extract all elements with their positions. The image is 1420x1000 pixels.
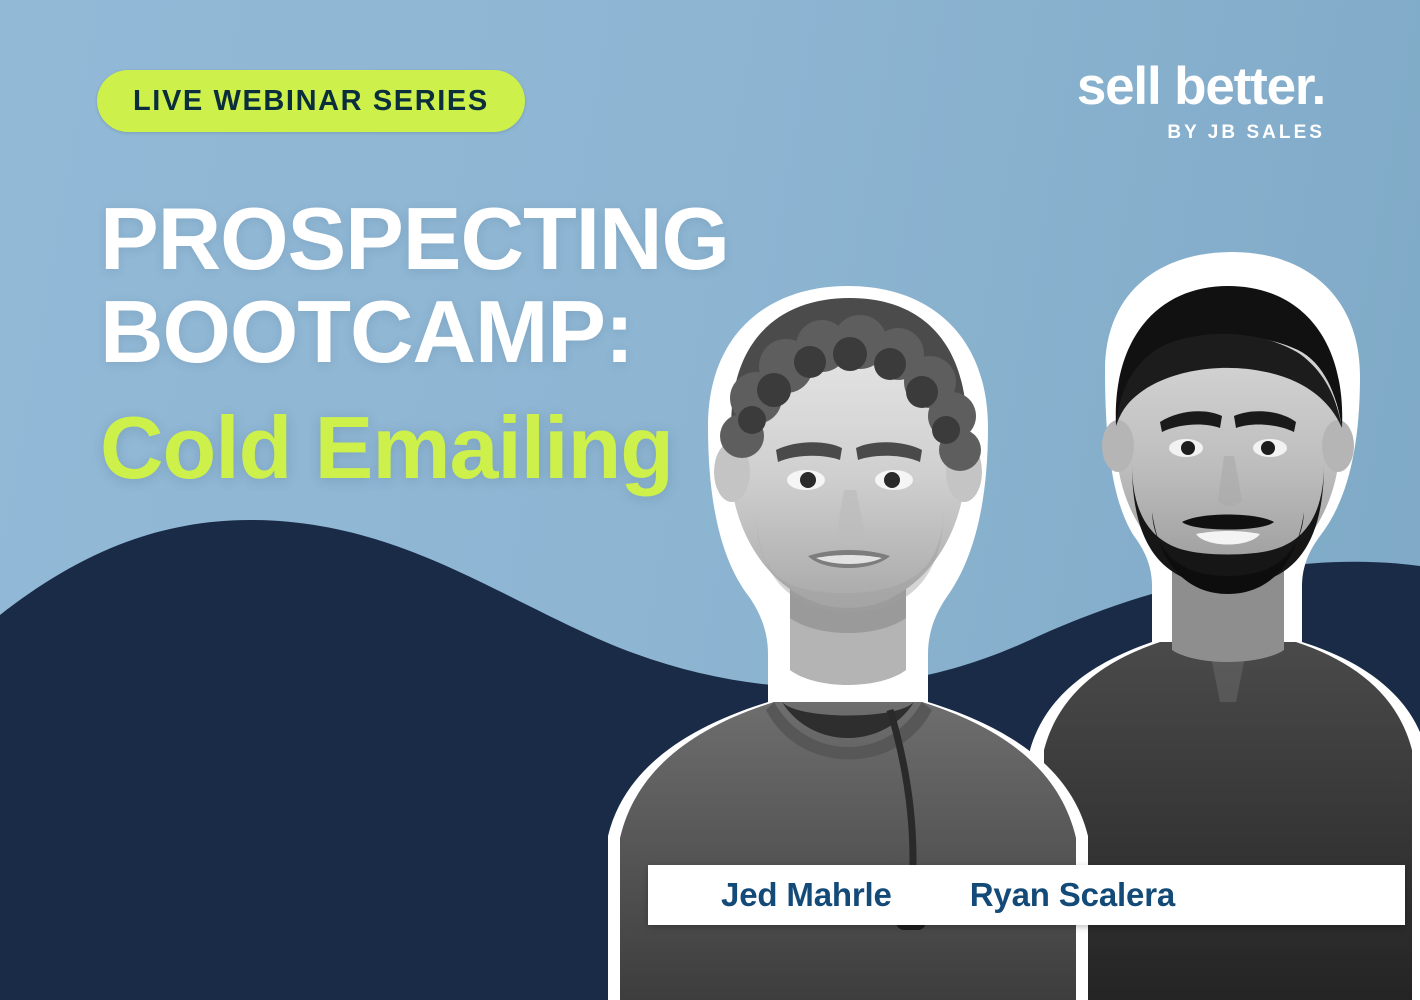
speaker-2-name: Ryan Scalera — [970, 876, 1175, 914]
webinar-promo-graphic: LIVE WEBINAR SERIES sell better. BY JB S… — [0, 0, 1420, 1000]
speaker-name-bar: Jed Mahrle Ryan Scalera — [648, 865, 1405, 925]
logo-brand-text: sell better. — [1077, 60, 1325, 113]
sell-better-logo: sell better. BY JB SALES — [1077, 60, 1325, 144]
speaker-1-name: Jed Mahrle — [721, 876, 892, 914]
badge-label: LIVE WEBINAR SERIES — [133, 85, 489, 118]
live-webinar-series-badge: LIVE WEBINAR SERIES — [97, 70, 525, 132]
logo-tagline-text: BY JB SALES — [1077, 122, 1325, 144]
